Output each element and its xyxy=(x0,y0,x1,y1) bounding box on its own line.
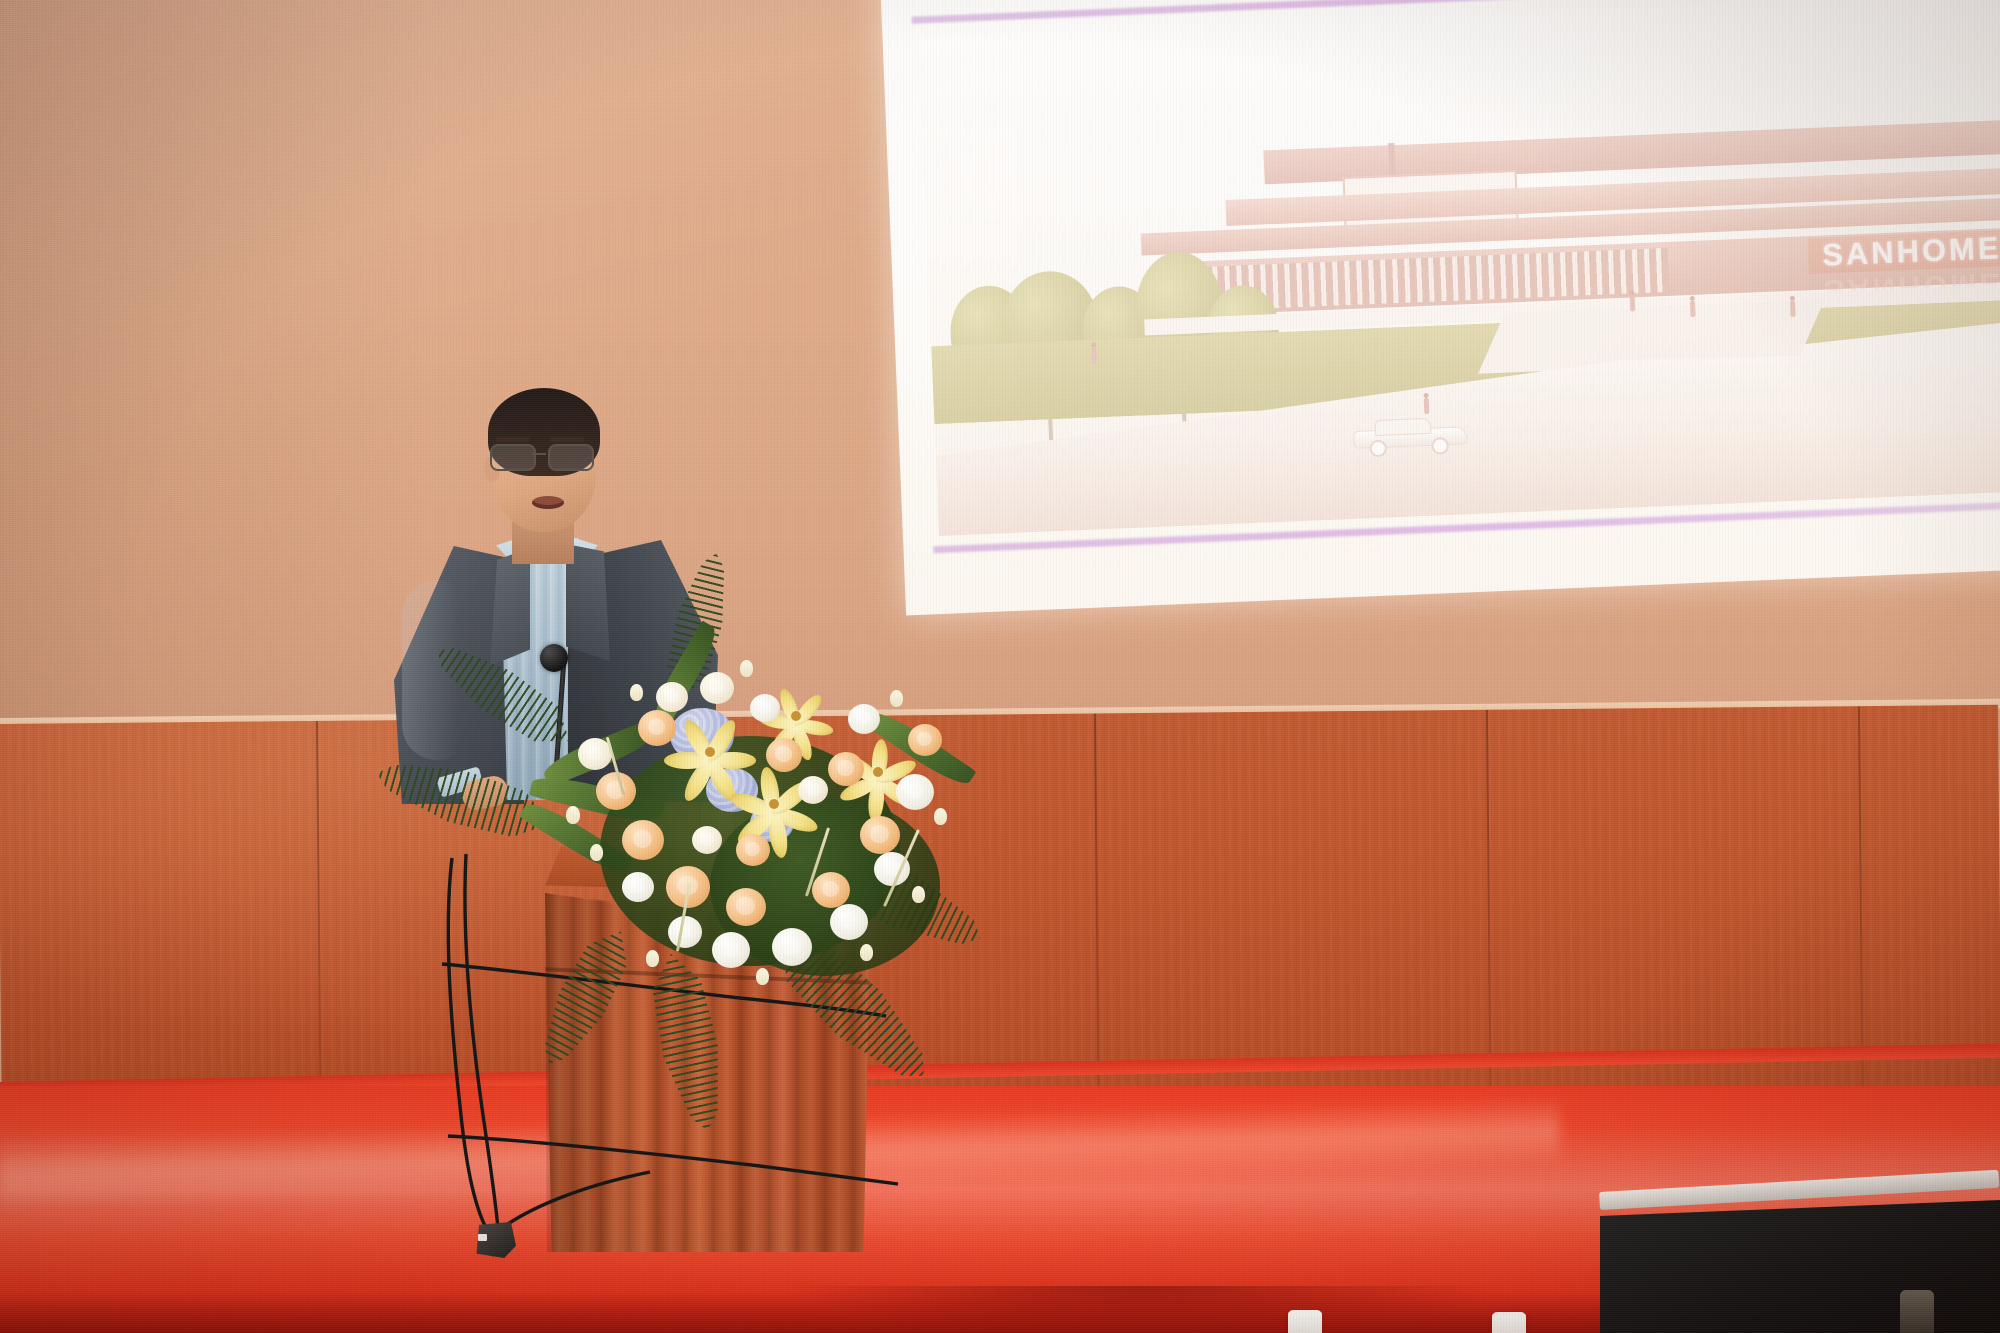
photo-scene: SANHOME SANHOME xyxy=(0,0,2000,1333)
white-rose xyxy=(622,872,654,902)
peach-rose xyxy=(860,816,900,854)
render-car xyxy=(1353,416,1466,451)
flower-bud xyxy=(740,660,753,677)
cream-rose xyxy=(692,826,722,854)
glasses-icon xyxy=(490,444,598,468)
cream-rose xyxy=(700,672,734,704)
floral-arrangement xyxy=(560,676,980,1056)
render-pedestrian xyxy=(1690,301,1696,317)
eyebrow-left xyxy=(496,437,530,442)
peach-rose xyxy=(766,738,802,772)
display-monitor-rear xyxy=(1600,1192,2000,1333)
lily-center xyxy=(873,767,883,777)
glasses-lens-left xyxy=(490,444,536,471)
render-pedestrian xyxy=(1790,301,1796,317)
monitor-back-panel xyxy=(1600,1200,2000,1333)
flower-bud xyxy=(630,684,643,701)
flower-bud xyxy=(646,950,659,967)
white-rose xyxy=(772,928,812,966)
render-car-cabin xyxy=(1375,418,1432,436)
flower-bud xyxy=(860,944,873,961)
flower-bud xyxy=(566,806,580,824)
flower-bud xyxy=(934,808,947,825)
cream-rose xyxy=(656,682,688,712)
lily-center xyxy=(769,799,779,809)
monitor-stand xyxy=(1900,1290,1934,1333)
flower-bud xyxy=(756,968,769,985)
white-rose xyxy=(848,704,880,734)
flower-bud xyxy=(890,690,903,707)
upper-wall-shadow xyxy=(0,0,430,760)
eyebrow-right xyxy=(550,437,584,442)
cream-rose xyxy=(798,776,828,804)
white-rose xyxy=(668,916,702,948)
white-rose xyxy=(896,774,934,810)
lily-center xyxy=(705,747,715,757)
slide-architectural-rendering: SANHOME SANHOME xyxy=(918,0,2000,536)
peach-rose xyxy=(828,752,864,786)
glasses-bridge xyxy=(532,453,546,455)
cable-box-indicator xyxy=(478,1234,487,1241)
peach-rose xyxy=(622,820,664,860)
peach-rose xyxy=(596,772,636,810)
peach-rose xyxy=(736,834,770,866)
peach-rose xyxy=(638,710,676,746)
lily-center xyxy=(791,711,801,721)
render-pedestrian xyxy=(1424,398,1430,414)
white-cup xyxy=(1288,1310,1322,1333)
microphone-icon xyxy=(540,644,568,672)
flower-bud xyxy=(912,886,925,903)
white-rose xyxy=(830,904,868,940)
white-cup xyxy=(1492,1312,1526,1333)
glasses-lens-right xyxy=(548,444,594,471)
white-rose xyxy=(712,932,750,968)
projection-screen: SANHOME SANHOME xyxy=(880,0,2000,615)
peach-rose xyxy=(726,888,766,926)
flower-bud xyxy=(590,844,603,861)
render-pedestrian xyxy=(1091,347,1097,363)
render-signage-text: SANHOME xyxy=(1821,230,2000,273)
peach-rose xyxy=(908,724,942,756)
render-pedestrian xyxy=(1630,295,1636,311)
mouth xyxy=(532,496,564,509)
white-rose xyxy=(750,694,780,722)
peach-rose xyxy=(812,872,850,908)
